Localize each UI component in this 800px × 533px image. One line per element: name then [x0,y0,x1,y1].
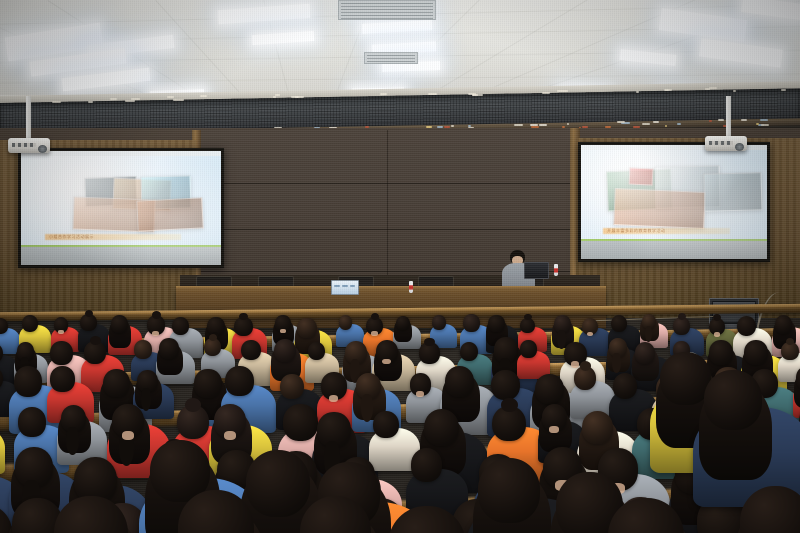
person-head [388,506,466,533]
ceiling-air-vent-2 [364,52,418,64]
person-head [280,374,304,399]
left-projector-pole [26,96,31,140]
person-head [22,315,38,332]
projector-lens-icon [735,143,744,151]
beam-lip-speck [733,90,736,92]
person-head [491,370,520,400]
person-hair-bun [209,334,217,341]
person-head [14,366,43,396]
person-head [300,496,371,533]
projector-vent-icon [709,141,733,145]
person-neck [371,331,377,336]
audience-person-pink-jacket [740,486,800,533]
lecture-hall-photo: 小组合作学习活动展示 开展丰富多彩的教育教学活动 [0,0,800,533]
vent-louver [341,15,433,16]
person-head [241,340,261,361]
beam-lip-speck [709,87,717,89]
water-bottle-presenter[interactable] [554,264,558,276]
beam-lip-speck [52,101,61,103]
slide-photo-5 [703,172,762,212]
person-head [520,340,537,358]
person-head [445,366,474,397]
beam-speck [709,120,712,122]
right-slide: 开展丰富多彩的教育教学活动 [581,150,767,241]
laptop-screen-content [350,285,355,287]
beam-speck [451,125,454,127]
audience-person-foreground-left [54,496,182,533]
audience-person [642,314,666,345]
person-neck [382,359,390,365]
right-projection-screen[interactable]: 开展丰富多彩的教育教学活动 [578,142,770,262]
person-hair-bun [371,313,379,320]
left-screen-surface: 小组合作学习活动展示 [21,151,221,265]
person-hair-bun [185,398,201,412]
person-neck [122,431,134,440]
person-head [775,315,793,334]
person-head [488,315,504,332]
slide-photo-2 [629,167,654,185]
vent-louver [341,12,433,13]
person-head [463,314,480,332]
person-head [432,315,446,330]
vent-louver [341,6,433,7]
beam-lip-speck [781,89,786,91]
vent-louver [341,9,433,10]
left-screen-lower-band [21,247,221,265]
person-head [535,374,564,405]
person-neck [280,329,286,333]
audience-person-red-jacket [178,490,310,533]
person-head [103,369,130,397]
vent-louver [367,58,415,59]
beam-speck [718,119,724,121]
beam-lip-speck [665,89,673,91]
beam-lip-speck [428,93,436,95]
person-hair-bun [152,311,161,319]
person-head [424,409,460,447]
right-screen-surface: 开展丰富多彩的教育教学活动 [581,145,767,259]
beam-speck [741,119,746,121]
audience-person-logo-jacket [704,370,800,500]
wall-vertical-seam [387,130,388,290]
person-head [704,370,762,430]
person-head [611,315,628,332]
beam-lip-speck [557,90,568,92]
vent-louver [341,18,433,19]
beam-speck [642,123,650,125]
ceiling-air-vent-1 [338,0,436,20]
vent-louver [341,3,433,4]
person-head [111,315,128,333]
person-head [582,411,613,444]
right-ceiling-projector[interactable] [705,136,747,151]
person-head [460,342,478,361]
beam-speck [760,119,768,121]
person-ponytail [645,326,652,342]
person-neck [416,391,424,397]
person-head [613,373,638,399]
beam-speck [665,125,667,127]
laptop-screen [331,280,359,295]
person-head [744,340,768,365]
person-head [608,498,684,533]
open-laptop-presenter[interactable] [524,262,547,277]
left-slide: 小组合作学习活动展示 [21,156,221,247]
beam-lip-speck [110,98,117,100]
beam-speck [617,121,626,123]
person-head [172,317,189,335]
person-neck [224,431,236,440]
audience-person-foreground-center [388,506,524,533]
projector-lens-icon [38,145,47,153]
audience-person [432,315,456,345]
person-head [54,496,128,533]
person-hair-bun [85,310,93,317]
vent-louver [367,61,415,62]
person-head [373,411,399,438]
person-head [194,369,221,397]
right-screen-lower-band [581,241,767,259]
beam-speck [539,124,547,126]
beam-lip-speck [88,101,93,103]
audience [0,300,800,533]
vent-louver [367,55,415,56]
person-neck [329,395,339,402]
water-bottle-center[interactable] [409,281,413,293]
person-head [660,352,711,405]
laptop-screen-content [334,285,340,287]
person-head [178,490,254,533]
person-neck [58,330,64,334]
person-head [134,340,152,359]
person-head [635,342,656,364]
person-head [283,404,318,441]
projector-vent-icon [12,143,36,147]
beam-lip-speck [125,100,135,102]
person-head [396,316,410,331]
slide-photo-4 [614,188,707,229]
audience-person-foreground-right [608,498,740,533]
beam-lip-speck [636,91,639,93]
laptop-screen [524,262,549,279]
person-neck [152,331,159,336]
person-hair-bun [501,398,518,412]
person-head [50,366,74,392]
person-head [274,339,296,363]
person-head [297,318,316,338]
person-head [339,315,353,330]
person-head [740,486,800,533]
right-projector-pole [726,96,731,138]
person-neck [714,332,720,336]
person-head [18,407,46,436]
beam-lip-speck [291,96,299,98]
person-neck [549,426,558,433]
person-head [308,342,325,360]
person-hair-bun [580,361,591,371]
left-projection-screen[interactable]: 小组合作学习活动展示 [18,148,224,268]
left-slide-caption: 小组合作学习活动展示 [49,234,94,240]
laptop-screen-content [342,285,348,287]
beam-speck [761,124,769,126]
beam-lip-speck [131,98,141,100]
open-laptop-center[interactable] [331,280,357,293]
beam-lip-speck [472,94,479,96]
person-hair-bun [90,336,101,345]
person-hair-bun [424,338,434,347]
person-head [159,338,179,359]
beam-lip-speck [380,93,386,95]
person-head [225,366,253,396]
right-slide-caption: 开展丰富多彩的教育教学活动 [607,228,666,234]
left-ceiling-projector[interactable] [8,138,50,153]
person-head [50,341,72,365]
slide-photo-5 [136,198,203,232]
